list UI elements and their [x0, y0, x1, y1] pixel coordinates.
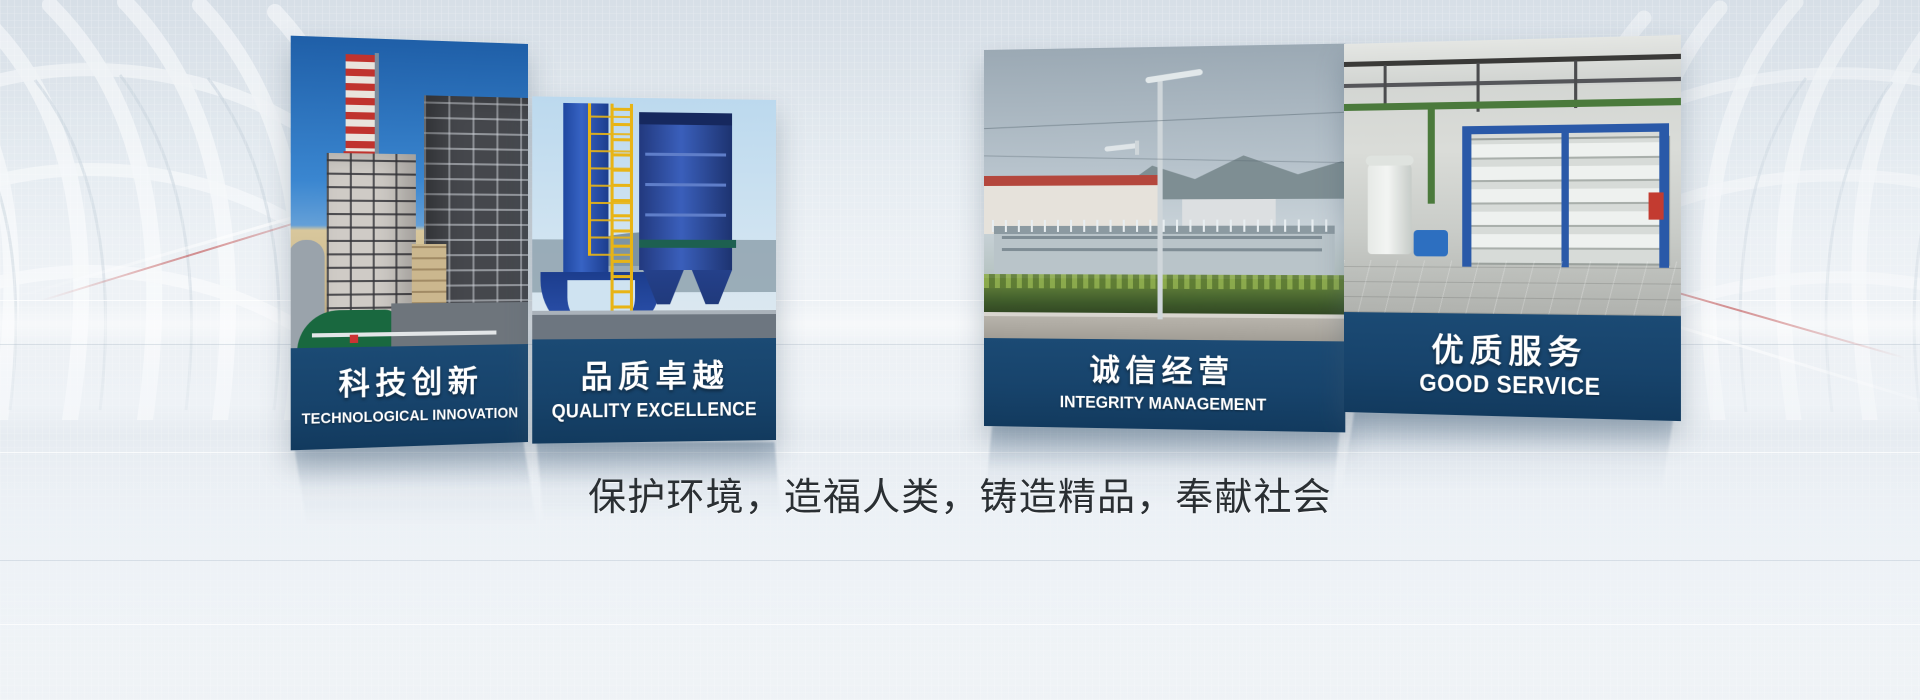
- panel-title-cn-technological-innovation: 科技创新: [338, 364, 483, 404]
- value-panel-quality-excellence[interactable]: 品质卓越 QUALITY EXCELLENCE: [532, 96, 776, 443]
- panel-photo-good-service: [1344, 35, 1681, 316]
- horizon-line-4: [0, 560, 1920, 561]
- panel-caption-quality-excellence: 品质卓越 QUALITY EXCELLENCE: [532, 338, 776, 444]
- panel-title-cn-good-service: 优质服务: [1431, 329, 1587, 373]
- panel-title-en-technological-innovation: TECHNOLOGICAL INNOVATION: [301, 403, 518, 430]
- value-panel-technological-innovation[interactable]: 科技创新 TECHNOLOGICAL INNOVATION: [291, 36, 528, 451]
- panel-title-en-integrity-management: INTEGRITY MANAGEMENT: [1059, 391, 1266, 417]
- panel-photo-integrity-management: [984, 44, 1345, 342]
- company-slogan: 保护环境，造福人类，铸造精品，奉献社会: [0, 466, 1920, 521]
- horizon-line-5: [0, 624, 1920, 625]
- value-panel-good-service[interactable]: 优质服务 GOOD SERVICE: [1344, 35, 1681, 421]
- panel-caption-integrity-management: 诚信经营 INTEGRITY MANAGEMENT: [984, 338, 1345, 432]
- panel-title-en-good-service: GOOD SERVICE: [1419, 370, 1600, 403]
- panel-photo-quality-excellence: [532, 96, 776, 339]
- panel-caption-technological-innovation: 科技创新 TECHNOLOGICAL INNOVATION: [291, 344, 528, 450]
- panel-photo-technological-innovation: [291, 36, 528, 349]
- panel-title-cn-integrity-management: 诚信经营: [1089, 353, 1234, 391]
- company-culture-banner: 科技创新 TECHNOLOGICAL INNOVATION: [0, 0, 1920, 700]
- panel-title-cn-quality-excellence: 品质卓越: [581, 357, 730, 397]
- panel-title-en-quality-excellence: QUALITY EXCELLENCE: [552, 398, 757, 425]
- panel-caption-good-service: 优质服务 GOOD SERVICE: [1344, 312, 1681, 421]
- value-panel-integrity-management[interactable]: 诚信经营 INTEGRITY MANAGEMENT: [984, 44, 1345, 433]
